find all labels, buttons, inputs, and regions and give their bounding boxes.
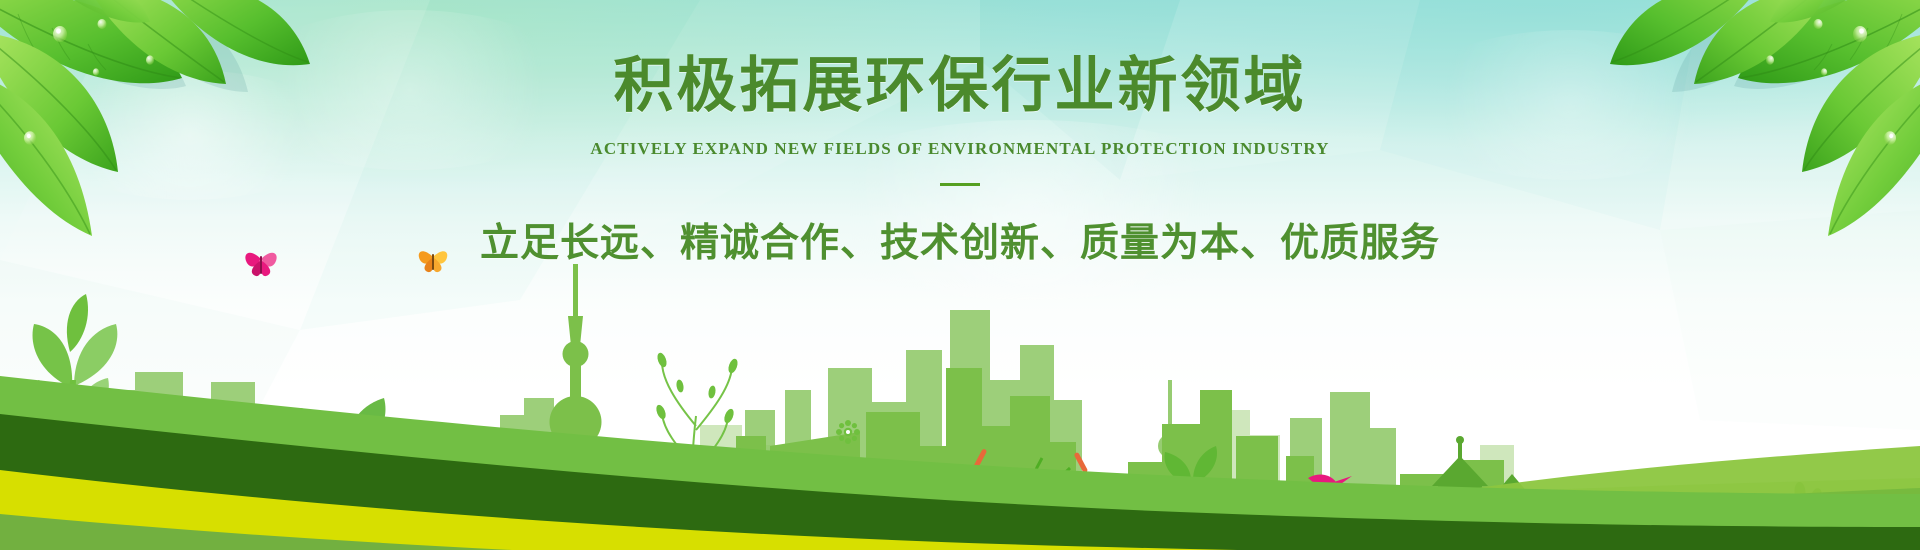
title-divider	[940, 183, 980, 186]
leaf-cluster-top-left	[0, 0, 420, 240]
eco-banner: 积极拓展环保行业新领域 ACTIVELY EXPAND NEW FIELDS O…	[0, 0, 1920, 550]
leaf-cluster-top-right	[1500, 0, 1920, 240]
wave-bands-layer	[0, 310, 1920, 550]
